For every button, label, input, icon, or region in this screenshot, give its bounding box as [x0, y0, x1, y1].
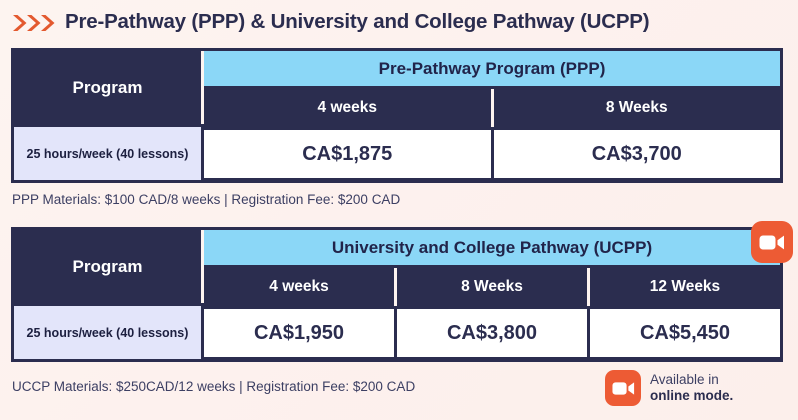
program-column-ucpp: Program 25 hours/week (40 lessons)	[14, 230, 204, 359]
duration-header-ucpp-1: 8 Weeks	[397, 268, 590, 306]
program-header-ppp: Program	[14, 51, 204, 124]
program-column-ppp: Program 25 hours/week (40 lessons)	[14, 51, 204, 180]
price-ucpp-1: CA$3,800	[397, 309, 590, 357]
price-row-ucpp: CA$1,950 CA$3,800 CA$5,450	[204, 306, 780, 357]
duration-header-ppp-1: 8 Weeks	[494, 89, 781, 127]
duration-header-ucpp-2: 12 Weeks	[590, 268, 780, 306]
duration-header-row-ucpp: 4 weeks 8 Weeks 12 Weeks	[204, 268, 780, 306]
table-body-ppp: Program 25 hours/week (40 lessons) Pre-P…	[14, 51, 780, 180]
group-header-ucpp: University and College Pathway (UCPP)	[204, 230, 780, 268]
duration-header-row-ppp: 4 weeks 8 Weeks	[204, 89, 780, 127]
table-body-ucpp: Program 25 hours/week (40 lessons) Unive…	[14, 230, 780, 359]
price-ucpp-2: CA$5,450	[590, 309, 780, 357]
duration-header-ucpp-0: 4 weeks	[204, 268, 397, 306]
price-ucpp-0: CA$1,950	[204, 309, 397, 357]
ppp-right-group: Pre-Pathway Program (PPP) 4 weeks 8 Week…	[204, 51, 780, 180]
price-row-ppp: CA$1,875 CA$3,700	[204, 127, 780, 178]
note-ppp: PPP Materials: $100 CAD/8 weeks | Regist…	[12, 192, 400, 207]
pricing-table-ppp: Program 25 hours/week (40 lessons) Pre-P…	[11, 48, 783, 183]
page-title: Pre-Pathway (PPP) & University and Colle…	[65, 10, 649, 34]
online-mode-text: Available in online mode.	[650, 372, 733, 404]
pricing-table-ucpp: Program 25 hours/week (40 lessons) Unive…	[11, 227, 783, 362]
online-mode-badge: Available in online mode.	[605, 370, 733, 406]
triple-chevron-right-icon	[11, 13, 55, 33]
pricing-infographic: Pre-Pathway (PPP) & University and Colle…	[0, 0, 798, 420]
video-camera-icon	[605, 370, 641, 406]
price-ppp-1: CA$3,700	[494, 130, 781, 178]
program-header-ucpp: Program	[14, 230, 204, 303]
header-title-row: Pre-Pathway (PPP) & University and Colle…	[11, 2, 649, 42]
program-value-ucpp: 25 hours/week (40 lessons)	[14, 303, 204, 359]
group-header-ppp: Pre-Pathway Program (PPP)	[204, 51, 780, 89]
price-ppp-0: CA$1,875	[204, 130, 494, 178]
video-camera-icon	[751, 221, 793, 263]
program-value-ppp: 25 hours/week (40 lessons)	[14, 124, 204, 180]
note-ucpp: UCCP Materials: $250CAD/12 weeks | Regis…	[12, 379, 415, 394]
ucpp-right-group: University and College Pathway (UCPP) 4 …	[204, 230, 780, 359]
online-mode-line2: online mode.	[650, 388, 733, 404]
duration-header-ppp-0: 4 weeks	[204, 89, 494, 127]
online-mode-line1: Available in	[650, 372, 733, 388]
